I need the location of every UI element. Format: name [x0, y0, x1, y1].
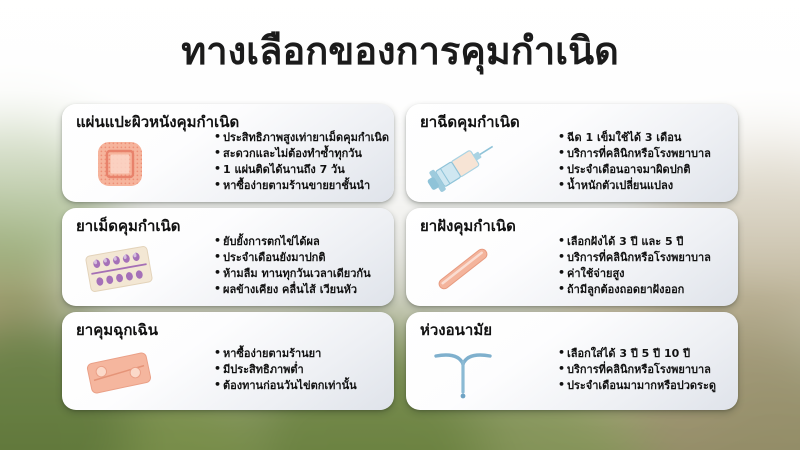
card-pill: ยาเม็ดคุมกำเนิด — [62, 208, 394, 306]
list-item: หาซื้อง่ายตามร้านยา — [214, 346, 386, 362]
list-item: สะดวกและไม่ต้องทำซ้ำทุกวัน — [214, 146, 386, 162]
syringe-icon — [424, 134, 502, 196]
list-item: ประจำเดือนยังมาปกติ — [214, 250, 386, 266]
list-item: บริการที่คลินิกหรือโรงพยาบาล — [558, 146, 730, 162]
list-item: เลือกฝังได้ 3 ปี และ 5 ปี — [558, 234, 730, 250]
contraceptive-patch-icon — [80, 134, 158, 196]
list-item: บริการที่คลินิกหรือโรงพยาบาล — [558, 362, 730, 378]
card-title-pill: ยาเม็ดคุมกำเนิด — [76, 217, 181, 235]
emergency-pill-icon — [80, 342, 158, 404]
card-injection: ยาฉีดคุมกำเนิด ฉีด 1 เข็มใช้ได้ 3 เดือน — [406, 104, 738, 202]
list-item: มีประสิทธิภาพต่ำ — [214, 362, 386, 378]
card-emergency: ยาคุมฉุกเฉิน หาซื้อง่ายตามร้านยา มีประสิ… — [62, 312, 394, 410]
bullet-list-emergency: หาซื้อง่ายตามร้านยา มีประสิทธิภาพต่ำ ต้อ… — [214, 346, 386, 394]
list-item: หาซื้อง่ายตามร้านขายยาชั้นนำ — [214, 178, 386, 194]
list-item: เลือกใส่ได้ 3 ปี 5 ปี 10 ปี — [558, 346, 730, 362]
card-iud: ห่วงอนามัย เลือกใส่ได้ 3 ปี 5 ปี 10 ปี บ… — [406, 312, 738, 410]
card-title-injection: ยาฉีดคุมกำเนิด — [420, 113, 520, 131]
list-item: น้ำหนักตัวเปลี่ยนแปลง — [558, 178, 730, 194]
list-item: 1 แผ่นติดได้นานถึง 7 วัน — [214, 162, 386, 178]
implant-rod-icon — [424, 238, 502, 300]
iud-icon — [424, 342, 502, 404]
list-item: ผลข้างเคียง คลื่นไส้ เวียนหัว — [214, 282, 386, 298]
list-item: ค่าใช้จ่ายสูง — [558, 266, 730, 282]
list-item: ต้องทานก่อนวันไข่ตกเท่านั้น — [214, 378, 386, 394]
list-item: ประจำเดือนมามากหรือปวดระดู — [558, 378, 730, 394]
list-item: บริการที่คลินิกหรือโรงพยาบาล — [558, 250, 730, 266]
card-implant: ยาฝังคุมกำเนิด เลือกฝังได้ 3 ปี และ 5 ปี… — [406, 208, 738, 306]
page-title: ทางเลือกของการคุมกำเนิด — [0, 28, 800, 76]
options-grid: แผ่นแปะผิวหนังคุมกำเนิด ประสิทธิภาพสูงเท… — [62, 104, 738, 410]
list-item: ห้ามลืม ทานทุกวันเวลาเดียวกัน — [214, 266, 386, 282]
bullet-list-implant: เลือกฝังได้ 3 ปี และ 5 ปี บริการที่คลินิ… — [558, 234, 730, 298]
bullet-list-pill: ยับยั้งการตกไข่ได้ผล ประจำเดือนยังมาปกติ… — [214, 234, 386, 298]
card-title-implant: ยาฝังคุมกำเนิด — [420, 217, 516, 235]
card-title-iud: ห่วงอนามัย — [420, 321, 492, 339]
list-item: ยับยั้งการตกไข่ได้ผล — [214, 234, 386, 250]
card-patch: แผ่นแปะผิวหนังคุมกำเนิด ประสิทธิภาพสูงเท… — [62, 104, 394, 202]
pill-pack-icon — [80, 238, 158, 300]
list-item: ฉีด 1 เข็มใช้ได้ 3 เดือน — [558, 130, 730, 146]
list-item: ถ้ามีลูกต้องถอดยาฝังออก — [558, 282, 730, 298]
list-item: ประจำเดือนอาจมาผิดปกติ — [558, 162, 730, 178]
bullet-list-patch: ประสิทธิภาพสูงเท่ายาเม็ดคุมกำเนิด สะดวกแ… — [214, 130, 386, 194]
card-title-emergency: ยาคุมฉุกเฉิน — [76, 321, 158, 339]
bullet-list-injection: ฉีด 1 เข็มใช้ได้ 3 เดือน บริการที่คลินิก… — [558, 130, 730, 194]
list-item: ประสิทธิภาพสูงเท่ายาเม็ดคุมกำเนิด — [214, 130, 386, 146]
infographic-poster: ทางเลือกของการคุมกำเนิด แผ่นแปะผิวหนังคุ… — [0, 0, 800, 450]
bullet-list-iud: เลือกใส่ได้ 3 ปี 5 ปี 10 ปี บริการที่คลิ… — [558, 346, 730, 394]
